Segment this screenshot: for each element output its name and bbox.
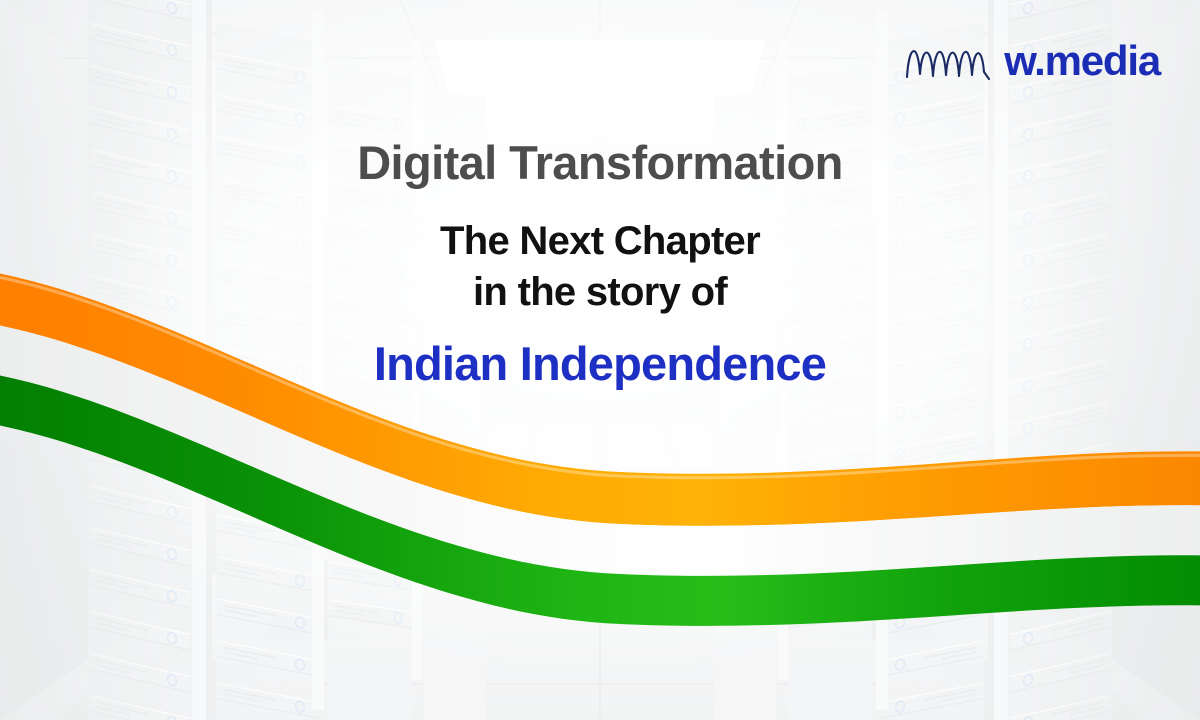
brand-wordmark: w.media (1004, 40, 1160, 82)
waveform-squiggle-icon (904, 38, 992, 84)
headline-emphasis: Indian Independence (40, 338, 1160, 391)
brand-logo[interactable]: w.media (904, 38, 1160, 84)
headline-eyebrow: Digital Transformation (40, 138, 1160, 188)
headline-line-2: in the story of (40, 267, 1160, 318)
promo-banner: w.media Digital Transformation The Next … (0, 0, 1200, 720)
headline-block: Digital Transformation The Next Chapter … (0, 138, 1200, 391)
headline-line-1: The Next Chapter (40, 216, 1160, 267)
